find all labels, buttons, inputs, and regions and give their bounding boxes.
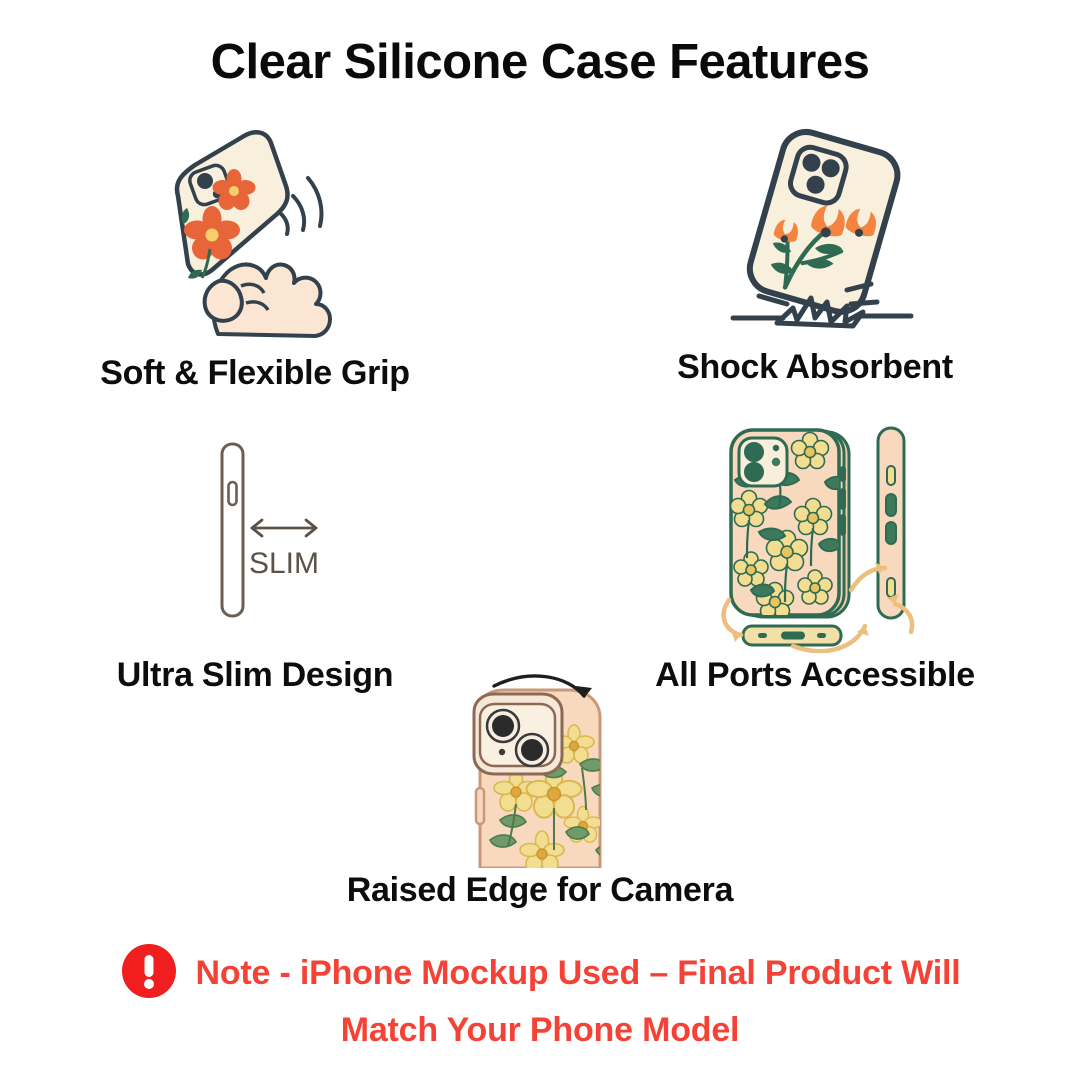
note-banner: Note - iPhone Mockup Used – Final Produc… (0, 942, 1080, 1050)
feature-label-soft-flexible-grip: Soft & Flexible Grip (20, 354, 490, 393)
phone-drop-impact-icon (715, 118, 930, 343)
case-ports-cutouts-icon (715, 418, 940, 653)
phone-side-profile-slim-icon: SLIM (190, 430, 375, 630)
feature-label-raised-edge-for-camera: Raised Edge for Camera (190, 871, 890, 910)
infographic-page: Clear Silicone Case Features (0, 0, 1080, 1080)
feature-label-shock-absorbent: Shock Absorbent (580, 348, 1050, 387)
feature-label-ultra-slim-design: Ultra Slim Design (20, 656, 490, 695)
feature-label-all-ports-accessible: All Ports Accessible (580, 656, 1050, 695)
exclamation-circle-icon (120, 942, 178, 1005)
case-raised-camera-edge-icon (450, 668, 645, 868)
note-line-1: Note - iPhone Mockup Used – Final Produc… (0, 942, 1080, 1005)
hand-holding-flexing-case-icon (140, 118, 370, 343)
slim-caption: SLIM (249, 547, 319, 580)
page-title: Clear Silicone Case Features (0, 34, 1080, 90)
note-text-line-2: Match Your Phone Model (341, 1011, 740, 1050)
note-text-line-1: Note - iPhone Mockup Used – Final Produc… (196, 954, 961, 993)
